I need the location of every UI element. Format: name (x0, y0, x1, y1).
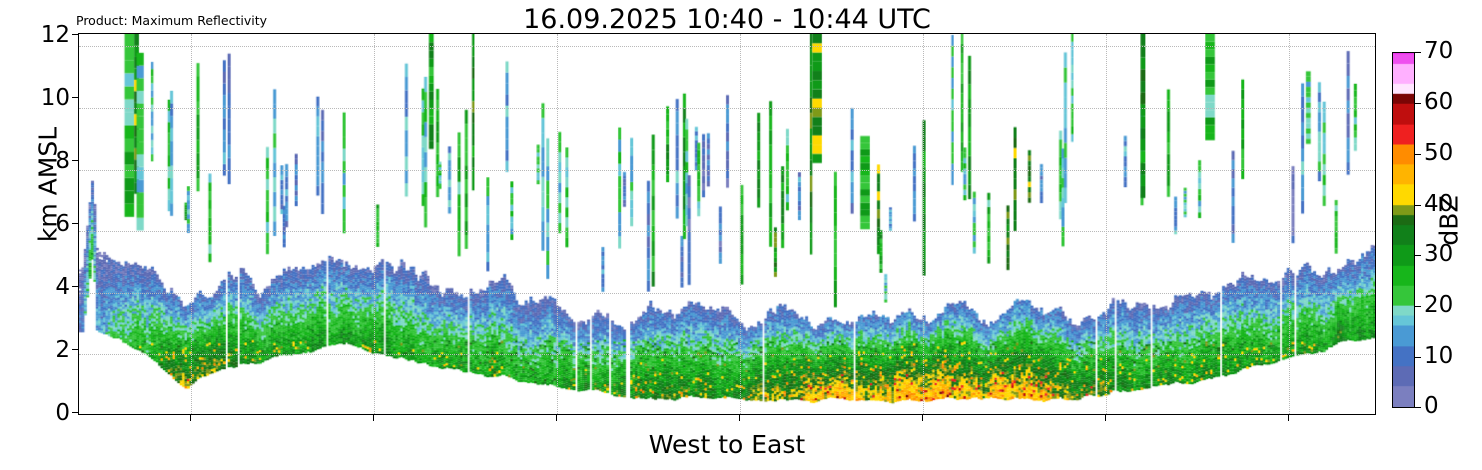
cb-label-0: 0 (1424, 393, 1439, 419)
cb-tick-mark-10 (1415, 357, 1421, 358)
cb-tick-mark-0 (1415, 407, 1421, 408)
cb-tick-mark-60 (1415, 103, 1421, 104)
y-tick-label-12: 12 (41, 22, 70, 48)
y-tick-label-2: 2 (55, 337, 70, 363)
cb-tick-mark-40 (1415, 205, 1421, 206)
y-tick-label-4: 4 (55, 274, 70, 300)
page-title: 16.09.2025 10:40 - 10:44 UTC (78, 4, 1376, 35)
cb-tick-mark-30 (1415, 255, 1421, 256)
cb-label-60: 60 (1424, 89, 1453, 115)
cb-tick-mark-20 (1415, 306, 1421, 307)
y-tick-label-6: 6 (55, 211, 70, 237)
cb-label-10: 10 (1424, 343, 1453, 369)
x-tick-mark-4 (739, 415, 740, 421)
x-axis-label: West to East (78, 430, 1376, 459)
cb-tick-mark-70 (1415, 52, 1421, 53)
reflectivity-heatmap-canvas (79, 34, 1375, 414)
x-tick-mark-1 (190, 415, 191, 421)
colorbar (1392, 52, 1415, 408)
colorbar-axis-label: dBZ (1435, 141, 1464, 301)
x-tick-mark-5 (922, 415, 923, 421)
radar-cross-section-figure: 16.09.2025 10:40 - 10:44 UTC Product: Ma… (0, 0, 1482, 470)
colorbar-gradient (1392, 52, 1415, 408)
cb-label-70: 70 (1424, 38, 1453, 64)
y-tick-label-8: 8 (55, 148, 70, 174)
x-tick-mark-3 (556, 415, 557, 421)
cb-tick-mark-50 (1415, 154, 1421, 155)
y-tick-label-10: 10 (41, 85, 70, 111)
y-tick-label-0: 0 (55, 400, 70, 426)
x-tick-mark-2 (373, 415, 374, 421)
x-tick-mark-7 (1288, 415, 1289, 421)
reflectivity-plot-area (78, 33, 1376, 415)
x-tick-mark-6 (1105, 415, 1106, 421)
product-annotation: Product: Maximum Reflectivity (76, 13, 267, 28)
